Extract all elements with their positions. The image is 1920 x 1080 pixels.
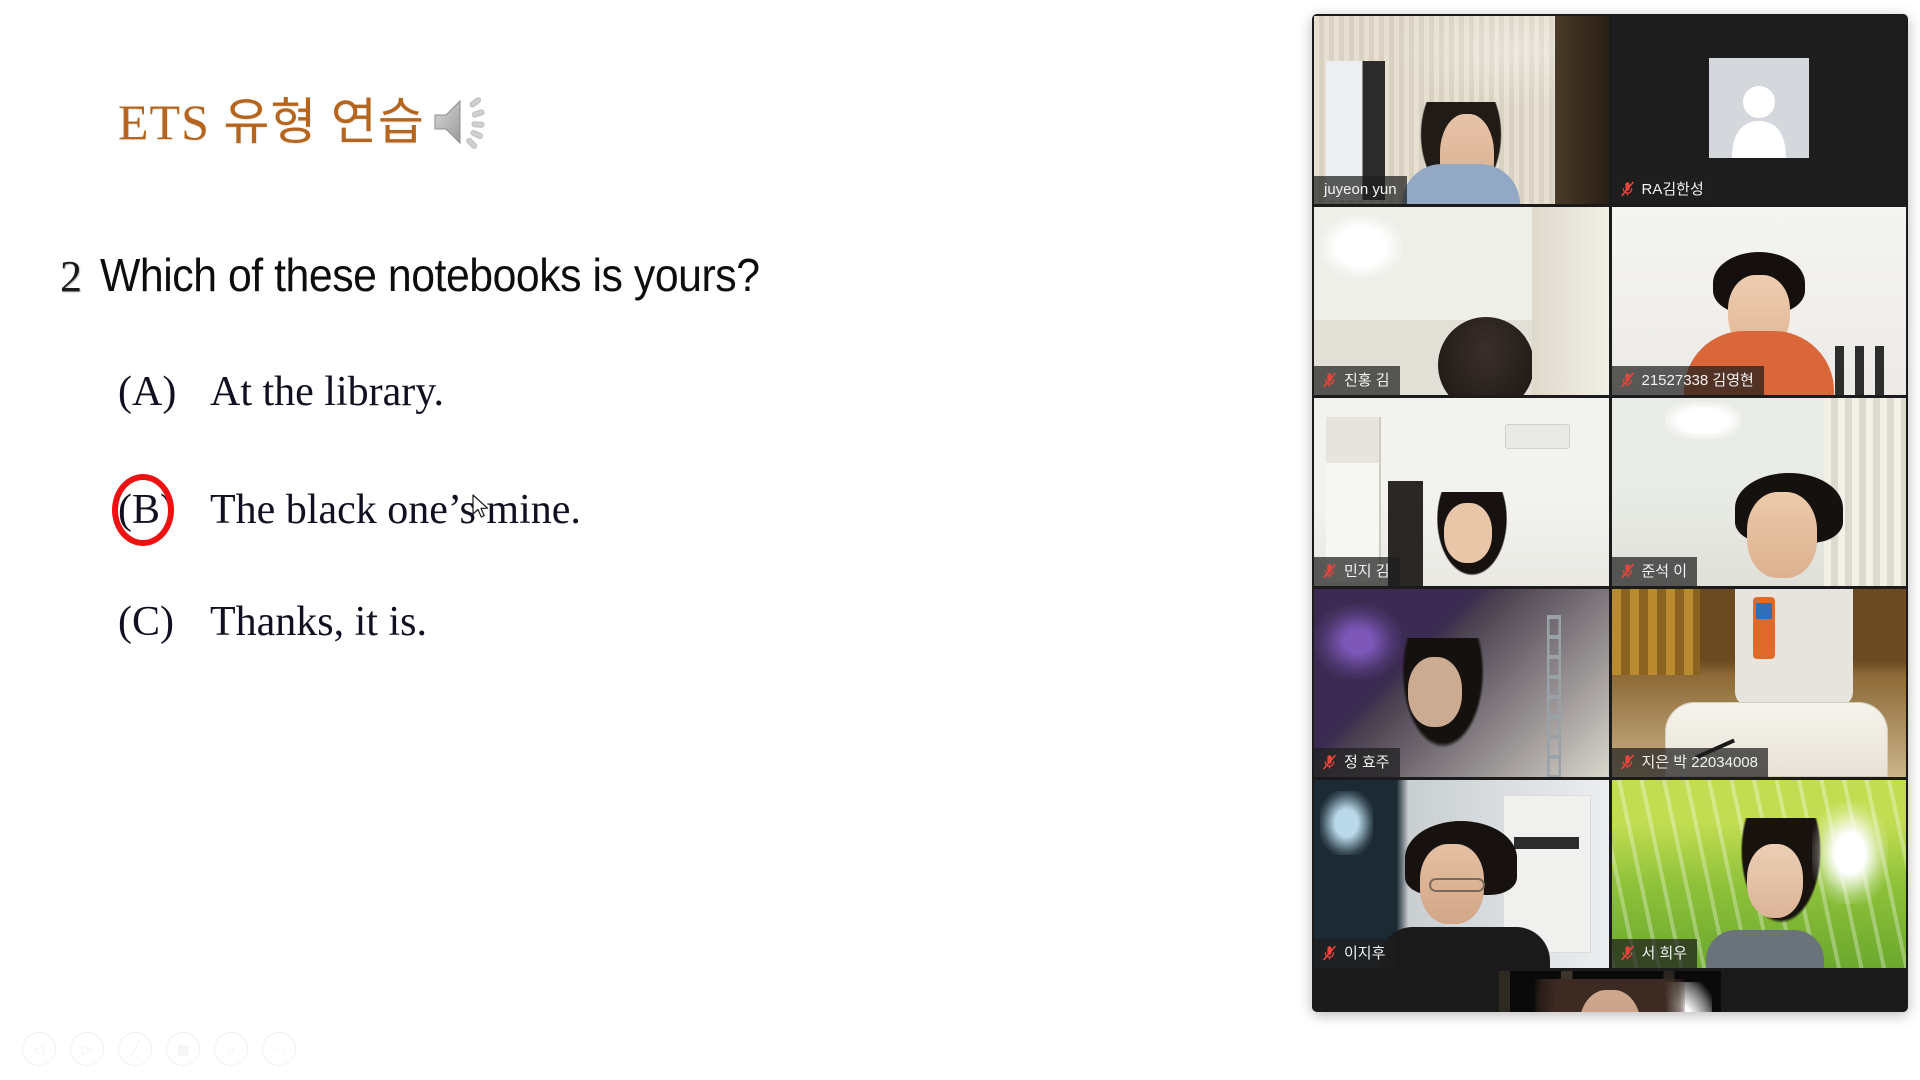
pen-icon: ╱ <box>131 1041 139 1058</box>
video-subject-face <box>1444 503 1492 563</box>
participant-name: 준석 이 <box>1642 564 1688 579</box>
person-silhouette-icon <box>1728 80 1790 158</box>
participant-name: RA김한성 <box>1642 182 1704 197</box>
video-subject-face <box>1747 844 1803 918</box>
microphone-muted-icon <box>1620 563 1635 579</box>
video-tile-juyeon-yun[interactable]: juyeon yun <box>1314 16 1609 204</box>
microphone-muted-icon <box>1322 754 1337 770</box>
video-tile-ra-kimhanseong[interactable]: RA김한성 <box>1612 16 1907 204</box>
participant-name-badge: 진홍 김 <box>1314 366 1400 395</box>
magnifier-icon: ⌕ <box>227 1041 235 1058</box>
video-tile-bora-park[interactable]: 박보라 <box>1499 971 1721 1012</box>
answer-option-a-letter: (A) <box>118 368 210 416</box>
microphone-muted-icon <box>1620 945 1635 961</box>
previous-slide-icon: ◁ <box>34 1041 45 1058</box>
video-tile-jihoo-lee[interactable]: 이지후 <box>1314 780 1609 968</box>
background-object <box>1835 346 1894 395</box>
background-object <box>1612 589 1700 675</box>
zoom-in-button[interactable]: ⌕ <box>214 1032 248 1066</box>
pen-tool-button[interactable]: ╱ <box>118 1032 152 1066</box>
participant-name-badge: RA김한성 <box>1612 175 1714 204</box>
answer-option-c-letter: (C) <box>118 598 210 646</box>
answer-option-c[interactable]: (C) Thanks, it is. <box>118 598 427 646</box>
screen: ETS 유형 연습 <box>0 0 1920 1080</box>
video-tile-jinhong-kim[interactable]: 진홍 김 <box>1314 207 1609 395</box>
participant-name-badge: juyeon yun <box>1314 176 1407 204</box>
mouse-pointer <box>472 494 490 520</box>
presentation-slide: ETS 유형 연습 <box>0 0 1320 1080</box>
answer-option-a[interactable]: (A) At the library. <box>118 368 444 416</box>
participant-name-badge: 정 효주 <box>1314 748 1400 777</box>
all-slides-button[interactable]: ▦ <box>166 1032 200 1066</box>
video-subject-object <box>1753 597 1775 659</box>
slide-title-text: ETS 유형 연습 <box>118 82 425 154</box>
video-subject-glasses <box>1429 878 1485 892</box>
ellipsis-icon: ⋯ <box>272 1041 286 1058</box>
microphone-muted-icon <box>1322 945 1337 961</box>
answer-option-b[interactable]: (B) The black one’s mine. <box>118 486 581 534</box>
answer-option-b-text: The black one’s mine. <box>210 486 581 534</box>
question-line: 2 Which of these notebooks is yours? <box>60 248 809 302</box>
previous-slide-button[interactable]: ◁ <box>22 1032 56 1066</box>
video-tile-minji-kim[interactable]: 민지 김 <box>1314 398 1609 586</box>
question-text: Which of these notebooks is yours? <box>100 248 760 302</box>
background-object <box>1547 615 1562 777</box>
participant-name: 21527338 김영현 <box>1642 373 1754 388</box>
video-tile-jieun-park[interactable]: 지은 박 22034008 <box>1612 589 1907 777</box>
background-object <box>1505 424 1570 448</box>
participant-name-badge: 민지 김 <box>1314 557 1400 586</box>
video-subject-face <box>1747 492 1817 578</box>
next-slide-icon: ▷ <box>82 1041 93 1058</box>
video-subject-body <box>1379 927 1550 968</box>
participant-name: 민지 김 <box>1344 564 1390 579</box>
participant-name-badge: 서 희우 <box>1612 939 1698 968</box>
participant-name-badge: 21527338 김영현 <box>1612 366 1764 395</box>
answer-option-c-text: Thanks, it is. <box>210 598 427 646</box>
microphone-muted-icon <box>1322 372 1337 388</box>
speaker-sound-icon[interactable] <box>431 94 495 150</box>
video-subject <box>1438 317 1534 395</box>
video-tile-junseok-lee[interactable]: 준석 이 <box>1612 398 1907 586</box>
participant-name-badge: 지은 박 22034008 <box>1612 748 1768 777</box>
question-number: 2 <box>60 251 82 302</box>
microphone-muted-icon <box>1620 372 1635 388</box>
video-subject-face <box>1408 657 1462 727</box>
microphone-muted-icon <box>1620 181 1635 197</box>
video-row: 민지 김 준석 이 <box>1314 398 1906 586</box>
video-tile-kimyounghyun[interactable]: 21527338 김영현 <box>1612 207 1907 395</box>
grid-icon: ▦ <box>176 1041 189 1058</box>
answer-option-a-text: At the library. <box>210 368 444 416</box>
participant-name-badge: 준석 이 <box>1612 557 1698 586</box>
microphone-muted-icon <box>1322 563 1337 579</box>
slide-title: ETS 유형 연습 <box>118 82 495 154</box>
participant-name: juyeon yun <box>1324 182 1397 197</box>
presentation-toolbar[interactable]: ◁ ▷ ╱ ▦ ⌕ ⋯ <box>22 1032 296 1066</box>
video-row: 진홍 김 21527338 김영현 <box>1314 207 1906 395</box>
video-subject-body <box>1402 164 1520 204</box>
participant-name: 지은 박 22034008 <box>1642 755 1758 770</box>
video-tile-hyojoo-jung[interactable]: 정 효주 <box>1314 589 1609 777</box>
video-row: juyeon yun <box>1314 16 1906 204</box>
video-row: 이지후 서 희우 <box>1314 780 1906 968</box>
answer-option-b-letter: (B) <box>118 486 210 534</box>
participant-name-badge: 이지후 <box>1314 939 1395 968</box>
zoom-video-panel[interactable]: juyeon yun <box>1312 14 1908 1012</box>
video-tile-heewoo-seo[interactable]: 서 희우 <box>1612 780 1907 968</box>
avatar <box>1709 58 1809 158</box>
more-options-button[interactable]: ⋯ <box>262 1032 296 1066</box>
next-slide-button[interactable]: ▷ <box>70 1032 104 1066</box>
video-row: 박보라 <box>1314 971 1906 1012</box>
participant-name: 진홍 김 <box>1344 373 1390 388</box>
participant-name: 정 효주 <box>1344 755 1390 770</box>
microphone-muted-icon <box>1620 754 1635 770</box>
participant-name: 이지후 <box>1344 946 1385 961</box>
participant-name: 서 희우 <box>1642 946 1688 961</box>
video-subject-body <box>1706 930 1824 968</box>
video-row: 정 효주 지은 박 <box>1314 589 1906 777</box>
